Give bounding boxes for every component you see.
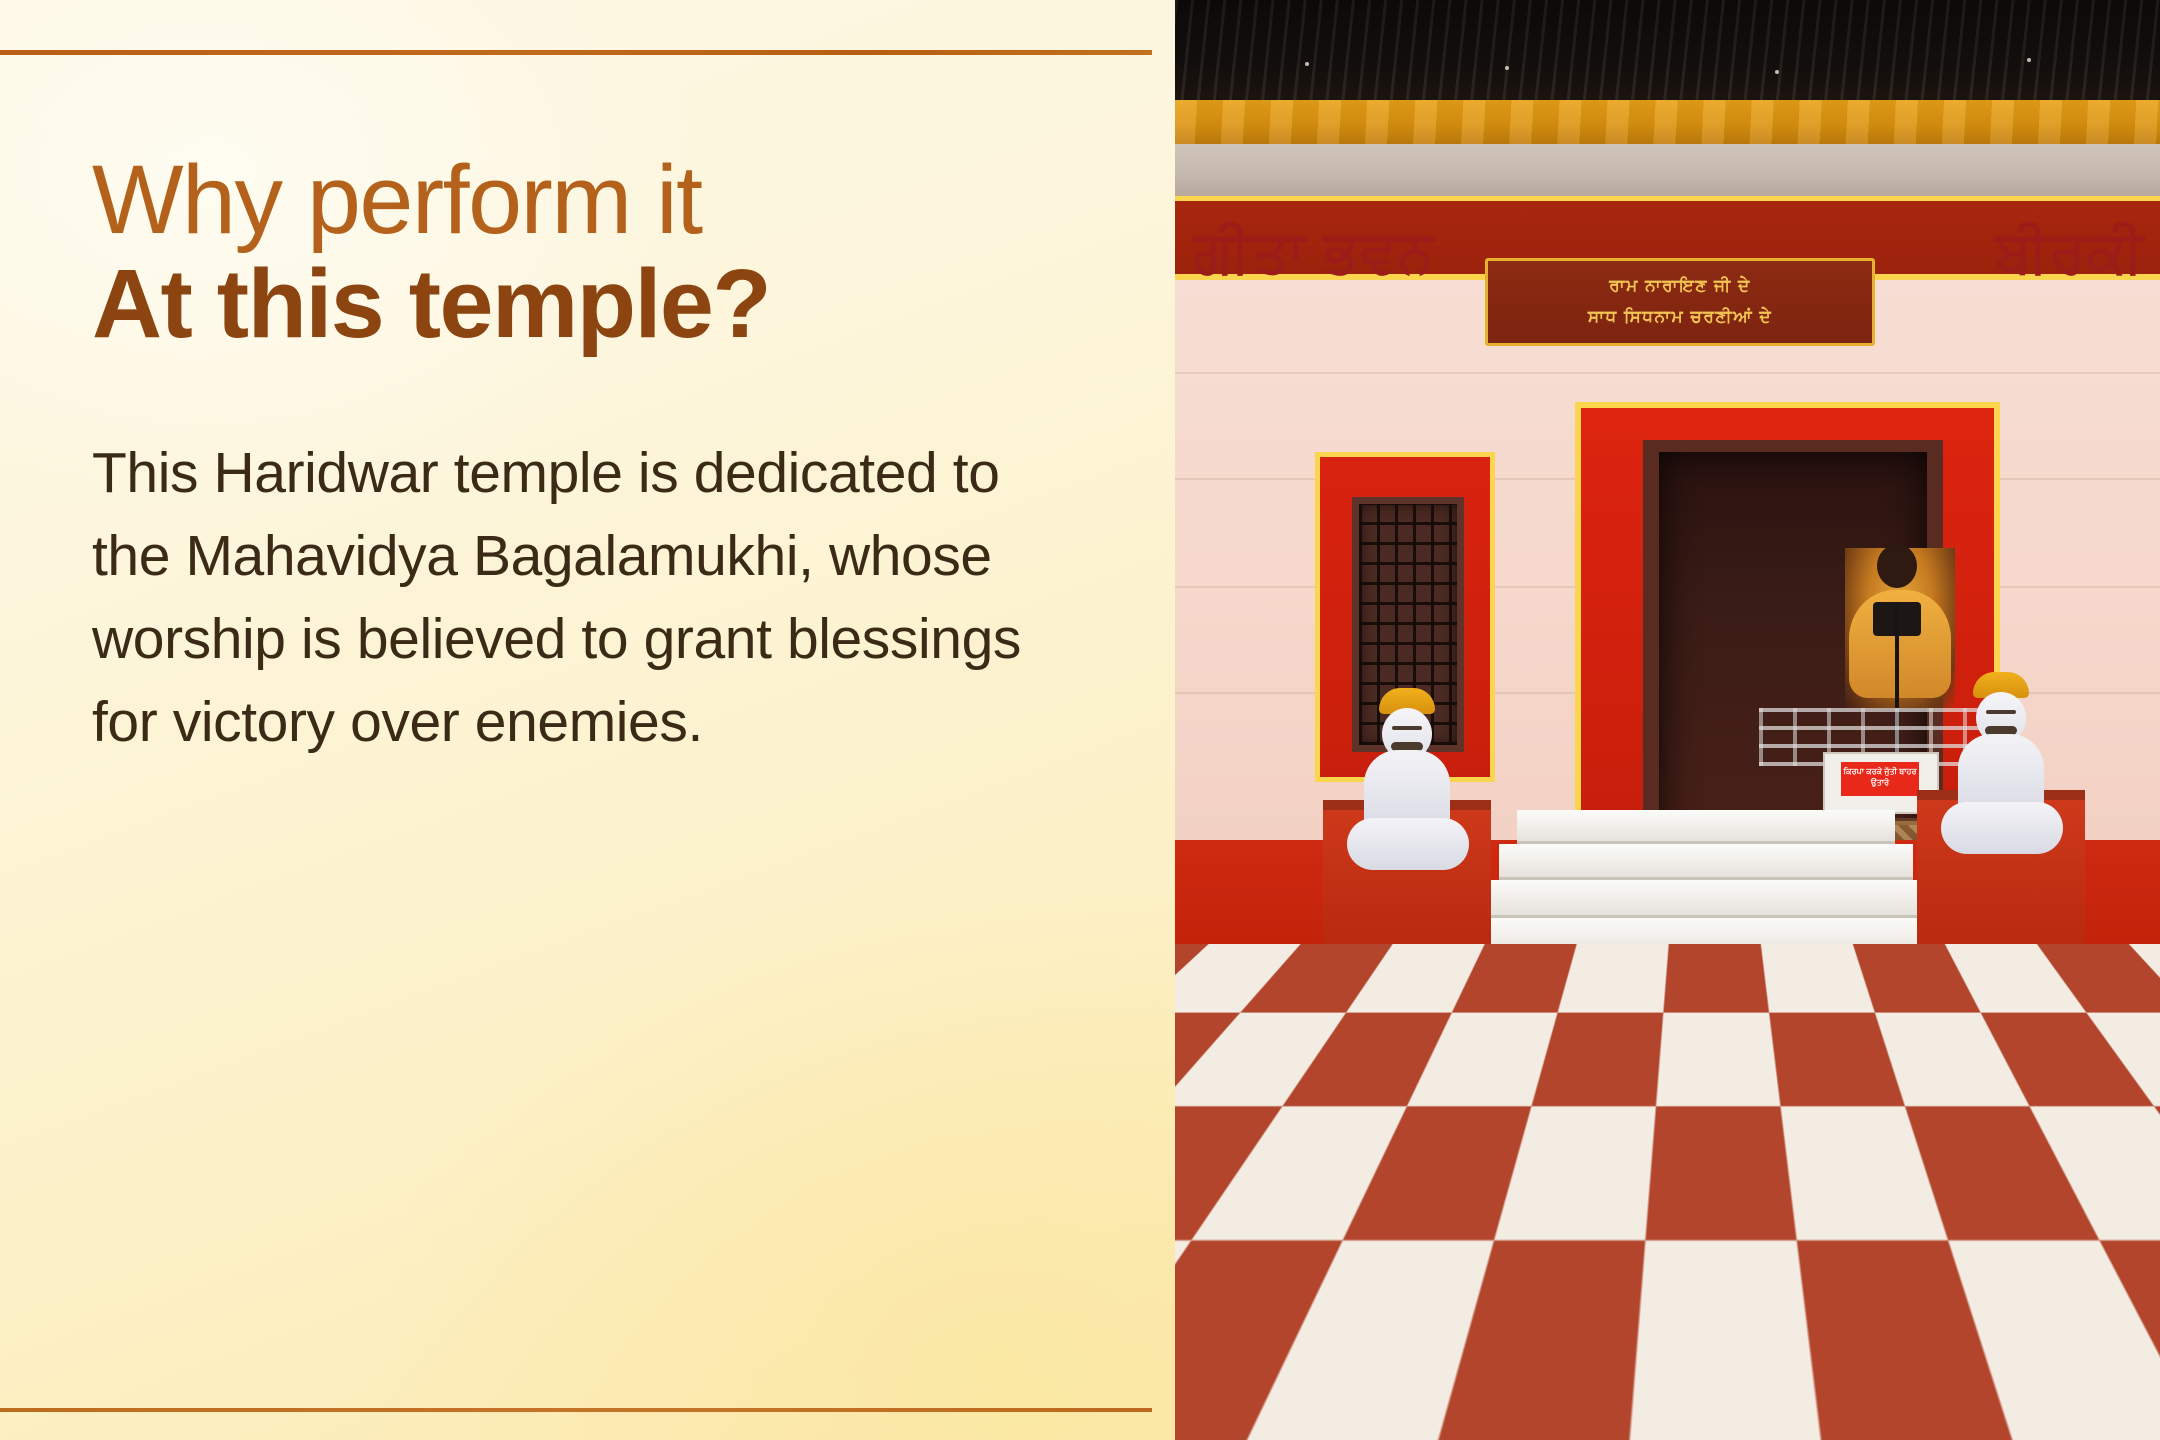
sign-left: ਗੀਤਾ ਭਵਨ [1193,212,1428,294]
heading-line-one: Why perform it [92,150,1102,251]
deity-head [1877,544,1917,588]
sign-right-text: ਬੀਰਕੀ [1995,212,2160,294]
checkerboard-floor [1175,944,2160,1440]
notice-sign: ਕਿਰਪਾ ਕਰਕੇ ਜੁੱਤੀ ਬਾਹਰ ਉਤਾਰੋ [1841,762,1919,796]
stone-course [1175,144,2160,196]
info-card: Why perform it At this temple? This Hari… [0,0,2160,1440]
orange-lintel-beam [1175,100,2160,144]
bottom-divider-rule [0,1408,1152,1412]
temple-photograph: ਗੀਤਾ ਭਵਨ ਬੀਰਕੀ ਰਾਮ ਨਾਰਾਇਣ ਜੀ ਦੇ ਸਾਧ ਸਿਧਨ… [1175,0,2160,1440]
panel-content: Why perform it At this temple? This Hari… [92,150,1102,764]
heading-line-two: At this temple? [92,251,1102,358]
step-2 [1499,844,1913,880]
plaque-line-one: ਰਾਮ ਨਾਰਾਇਣ ਜੀ ਦੇ [1609,271,1750,302]
statue-right-lap [1941,802,2063,854]
panel-body-paragraph: This Haridwar temple is dedicated to the… [92,432,1052,765]
ceiling-highlights [1175,0,2160,100]
top-divider-rule [0,50,1152,55]
step-1 [1517,810,1895,844]
text-panel: Why perform it At this temple? This Hari… [0,0,1175,1440]
temple-plaque: ਰਾਮ ਨਾਰਾਇਣ ਜੀ ਦੇ ਸਾਧ ਸਿਧਨਾਮ ਚਰਣੀਆਂ ਦੇ [1485,258,1875,346]
statue-left-eyes [1392,726,1422,730]
ceiling-shutter-band [1175,0,2160,100]
panel-heading: Why perform it At this temple? [92,150,1102,358]
statue-left-lap [1347,818,1469,870]
notice-sign-text: ਕਿਰਪਾ ਕਰਕੇ ਜੁੱਤੀ ਬਾਹਰ ਉਤਾਰੋ [1841,762,1919,788]
sign-right: ਬੀਰਕੀ [1995,212,2160,294]
ornate-doorway-frame: ਕਿਰਪਾ ਕਰਕੇ ਜੁੱਤੀ ਬਾਹਰ ਉਤਾਰੋ [1575,402,2000,840]
floor-shadow [1175,944,2160,1440]
beam-texture [1175,100,2160,144]
sign-left-text: ਗੀਤਾ ਭਵਨ [1193,212,1428,294]
sanctum-opening: ਕਿਰਪਾ ਕਰਕੇ ਜੁੱਤੀ ਬਾਹਰ ਉਤਾਰੋ [1659,452,1927,846]
statue-right-eyes [1986,710,2016,714]
plaque-line-two: ਸਾਧ ਸਿਧਨਾਮ ਚਰਣੀਆਂ ਦੇ [1588,302,1772,333]
step-3 [1481,880,1931,918]
floor-object [1201,988,1223,1002]
